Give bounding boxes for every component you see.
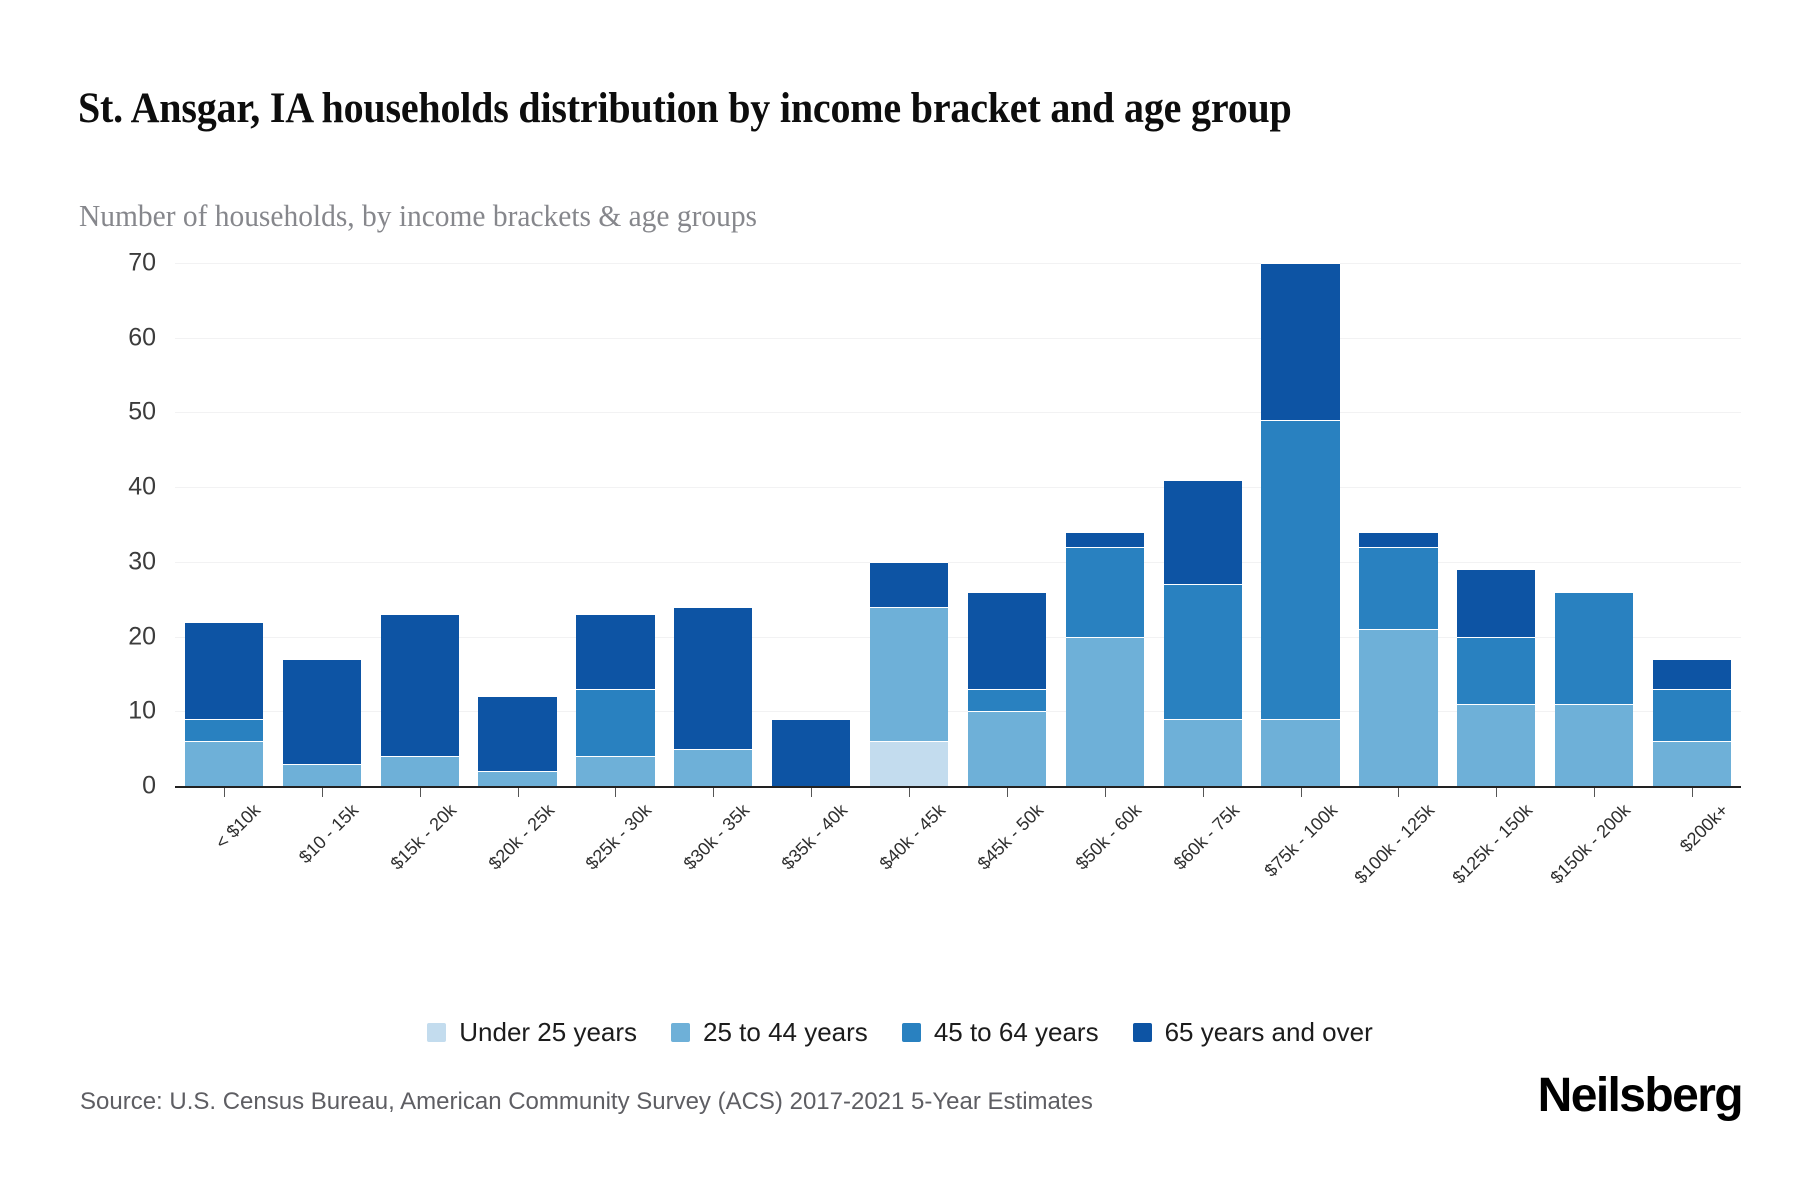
page-title: St. Ansgar, IA households distribution b… bbox=[78, 81, 1529, 138]
bar-segment[interactable] bbox=[1066, 532, 1144, 547]
x-axis-tick bbox=[1007, 788, 1008, 797]
x-axis-tick bbox=[224, 788, 225, 797]
bar-segment[interactable] bbox=[968, 711, 1046, 786]
y-axis-tick-label: 70 bbox=[96, 249, 156, 278]
bar-group[interactable] bbox=[870, 263, 948, 786]
bar-group[interactable] bbox=[1164, 263, 1242, 786]
bar-segment[interactable] bbox=[478, 771, 556, 786]
bar-segment[interactable] bbox=[283, 764, 361, 786]
bar-group[interactable] bbox=[1066, 263, 1144, 786]
bar-segment[interactable] bbox=[185, 622, 263, 719]
bar-segment[interactable] bbox=[381, 614, 459, 756]
bar-segment[interactable] bbox=[576, 689, 654, 756]
bar-group[interactable] bbox=[478, 263, 556, 786]
bar-segment[interactable] bbox=[1653, 689, 1731, 741]
x-axis-tick bbox=[1496, 788, 1497, 797]
bar-group[interactable] bbox=[1261, 263, 1339, 786]
source-note: Source: U.S. Census Bureau, American Com… bbox=[80, 1088, 1093, 1116]
bar-segment[interactable] bbox=[870, 562, 948, 607]
bar-group[interactable] bbox=[772, 263, 850, 786]
legend-label: 65 years and over bbox=[1165, 1017, 1373, 1048]
x-axis-tick bbox=[811, 788, 812, 797]
x-axis-tick bbox=[615, 788, 616, 797]
x-axis-tick bbox=[420, 788, 421, 797]
y-axis-tick-label: 60 bbox=[96, 323, 156, 352]
bar-segment[interactable] bbox=[1359, 547, 1437, 629]
legend-swatch-icon bbox=[427, 1023, 446, 1042]
bar-group[interactable] bbox=[1653, 263, 1731, 786]
bar-segment[interactable] bbox=[576, 614, 654, 689]
bar-segment[interactable] bbox=[1164, 584, 1242, 718]
bar-segment[interactable] bbox=[968, 592, 1046, 689]
bar-segment[interactable] bbox=[1066, 547, 1144, 637]
bar-segment[interactable] bbox=[185, 719, 263, 741]
legend-label: 25 to 44 years bbox=[703, 1017, 868, 1048]
bar-segment[interactable] bbox=[1457, 569, 1535, 636]
bar-segment[interactable] bbox=[185, 741, 263, 786]
bar-group[interactable] bbox=[674, 263, 752, 786]
legend-item[interactable]: 25 to 44 years bbox=[671, 1017, 868, 1048]
bar-group[interactable] bbox=[576, 263, 654, 786]
x-axis-tick bbox=[1203, 788, 1204, 797]
y-axis-tick-label: 20 bbox=[96, 622, 156, 651]
legend-item[interactable]: 45 to 64 years bbox=[902, 1017, 1099, 1048]
bar-segment[interactable] bbox=[1261, 263, 1339, 420]
bar-segment[interactable] bbox=[1066, 637, 1144, 786]
x-axis-tick bbox=[1594, 788, 1595, 797]
legend-label: 45 to 64 years bbox=[934, 1017, 1099, 1048]
bar-segment[interactable] bbox=[1555, 592, 1633, 704]
bar-segment[interactable] bbox=[1555, 704, 1633, 786]
x-axis-tick bbox=[1301, 788, 1302, 797]
x-axis-line bbox=[175, 786, 1741, 788]
bar-segment[interactable] bbox=[283, 659, 361, 764]
bar-segment[interactable] bbox=[968, 689, 1046, 711]
bar-segment[interactable] bbox=[1653, 741, 1731, 786]
bar-group[interactable] bbox=[283, 263, 361, 786]
y-axis-tick-label: 0 bbox=[96, 772, 156, 801]
bar-segment[interactable] bbox=[1164, 480, 1242, 585]
y-axis-tick-label: 40 bbox=[96, 473, 156, 502]
bar-group[interactable] bbox=[1457, 263, 1535, 786]
bar-segment[interactable] bbox=[1359, 629, 1437, 786]
bar-segment[interactable] bbox=[674, 749, 752, 786]
bar-segment[interactable] bbox=[1261, 420, 1339, 719]
legend-item[interactable]: 65 years and over bbox=[1133, 1017, 1373, 1048]
x-axis-tick bbox=[713, 788, 714, 797]
bar-segment[interactable] bbox=[1164, 719, 1242, 786]
chart-subtitle: Number of households, by income brackets… bbox=[79, 198, 757, 234]
chart-page: St. Ansgar, IA households distribution b… bbox=[0, 0, 1800, 1200]
x-axis-tick bbox=[909, 788, 910, 797]
bar-group[interactable] bbox=[1359, 263, 1437, 786]
x-axis-tick bbox=[322, 788, 323, 797]
y-axis-tick-label: 10 bbox=[96, 697, 156, 726]
bar-segment[interactable] bbox=[478, 696, 556, 771]
bar-segment[interactable] bbox=[870, 607, 948, 741]
bar-group[interactable] bbox=[1555, 263, 1633, 786]
bar-segment[interactable] bbox=[1359, 532, 1437, 547]
bar-group[interactable] bbox=[381, 263, 459, 786]
chart-legend: Under 25 years25 to 44 years45 to 64 yea… bbox=[0, 1017, 1800, 1048]
legend-swatch-icon bbox=[902, 1023, 921, 1042]
legend-item[interactable]: Under 25 years bbox=[427, 1017, 637, 1048]
bar-segment[interactable] bbox=[674, 607, 752, 749]
x-axis-tick bbox=[1398, 788, 1399, 797]
legend-label: Under 25 years bbox=[459, 1017, 637, 1048]
bar-segment[interactable] bbox=[772, 719, 850, 786]
bar-group[interactable] bbox=[968, 263, 1046, 786]
y-axis-tick-label: 30 bbox=[96, 547, 156, 576]
bar-segment[interactable] bbox=[1457, 704, 1535, 786]
x-axis-tick bbox=[1692, 788, 1693, 797]
x-axis-tick bbox=[518, 788, 519, 797]
brand-logo: Neilsberg bbox=[1538, 1068, 1742, 1123]
bar-segment[interactable] bbox=[381, 756, 459, 786]
bar-group[interactable] bbox=[185, 263, 263, 786]
x-axis-tick bbox=[1105, 788, 1106, 797]
bar-segment[interactable] bbox=[1653, 659, 1731, 689]
bar-segment[interactable] bbox=[1261, 719, 1339, 786]
bar-segment[interactable] bbox=[576, 756, 654, 786]
legend-swatch-icon bbox=[1133, 1023, 1152, 1042]
legend-swatch-icon bbox=[671, 1023, 690, 1042]
y-axis-tick-label: 50 bbox=[96, 398, 156, 427]
bar-segment[interactable] bbox=[1457, 637, 1535, 704]
bar-segment[interactable] bbox=[870, 741, 948, 786]
